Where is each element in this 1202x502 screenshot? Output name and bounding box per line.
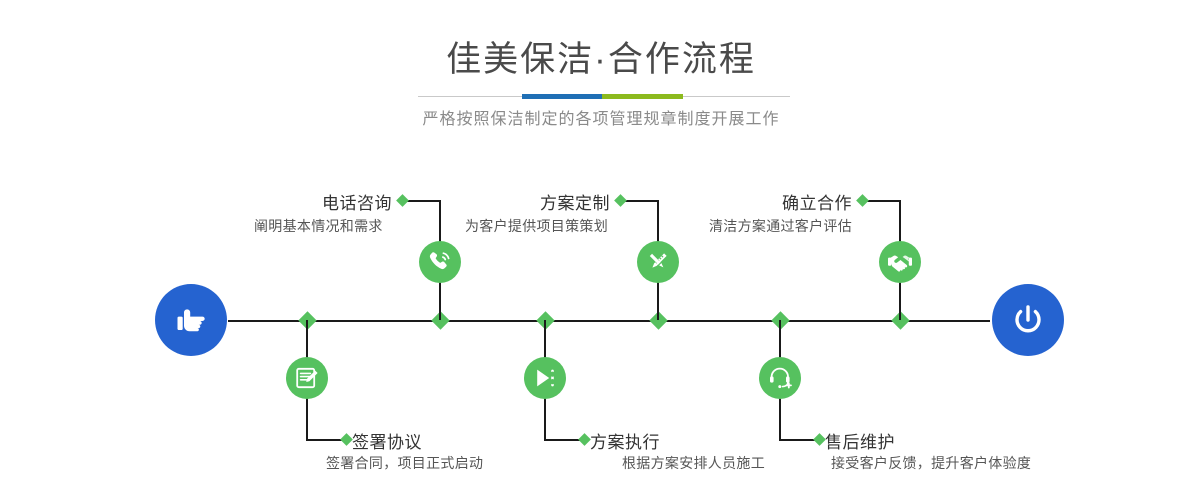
leaf-marker <box>856 194 869 207</box>
step-icon-circle[interactable] <box>759 357 801 399</box>
divider-segment-green <box>602 94 683 99</box>
step-desc: 根据方案安排人员施工 <box>622 453 765 473</box>
step-title: 电话咨询 <box>230 189 392 214</box>
connector-horizontal <box>544 439 582 441</box>
step-desc: 清洁方案通过客户评估 <box>709 216 852 236</box>
page-subtitle: 严格按照保洁制定的各项管理规章制度开展工作 <box>0 105 1202 129</box>
flowchart-canvas: 佳美保洁·合作流程 严格按照保洁制定的各项管理规章制度开展工作 <box>0 0 1202 502</box>
step-title: 售后维护 <box>825 428 895 453</box>
divider-segment-blue <box>522 94 602 99</box>
title-divider <box>418 94 790 99</box>
step-desc: 阐明基本情况和需求 <box>254 216 383 236</box>
play-execute-icon <box>532 365 558 391</box>
power-icon <box>1008 300 1048 340</box>
step-icon-circle[interactable] <box>524 357 566 399</box>
phone-call-icon <box>427 249 453 275</box>
step-icon-circle[interactable] <box>637 241 679 283</box>
document-edit-icon <box>294 365 320 391</box>
leaf-marker <box>396 194 409 207</box>
pencil-ruler-icon <box>645 249 671 275</box>
step-icon-circle[interactable] <box>419 241 461 283</box>
leaf-marker <box>578 433 591 446</box>
step-title: 方案执行 <box>590 428 660 453</box>
leaf-marker <box>614 194 627 207</box>
step-title: 方案定制 <box>450 189 610 214</box>
page-title: 佳美保洁·合作流程 <box>0 40 1202 80</box>
pointing-hand-icon <box>171 300 211 340</box>
connector-horizontal <box>623 200 659 202</box>
connector-horizontal <box>779 439 817 441</box>
leaf-marker <box>340 433 353 446</box>
connector-horizontal <box>405 200 441 202</box>
timeline-axis <box>228 320 990 322</box>
customer-service-add-icon <box>767 365 793 391</box>
connector-horizontal <box>306 439 344 441</box>
timeline-end-node[interactable] <box>992 284 1064 356</box>
header: 佳美保洁·合作流程 <box>0 0 1202 80</box>
step-desc: 接受客户反馈，提升客户体验度 <box>831 453 1031 473</box>
step-desc: 签署合同，项目正式启动 <box>326 453 483 473</box>
step-title: 确立合作 <box>700 189 852 214</box>
step-icon-circle[interactable] <box>879 241 921 283</box>
leaf-marker <box>813 433 826 446</box>
step-icon-circle[interactable] <box>286 357 328 399</box>
step-title: 签署协议 <box>352 428 422 453</box>
timeline-start-node[interactable] <box>155 284 227 356</box>
step-desc: 为客户提供项目策策划 <box>465 216 608 236</box>
handshake-icon <box>887 249 913 275</box>
connector-horizontal <box>865 200 901 202</box>
